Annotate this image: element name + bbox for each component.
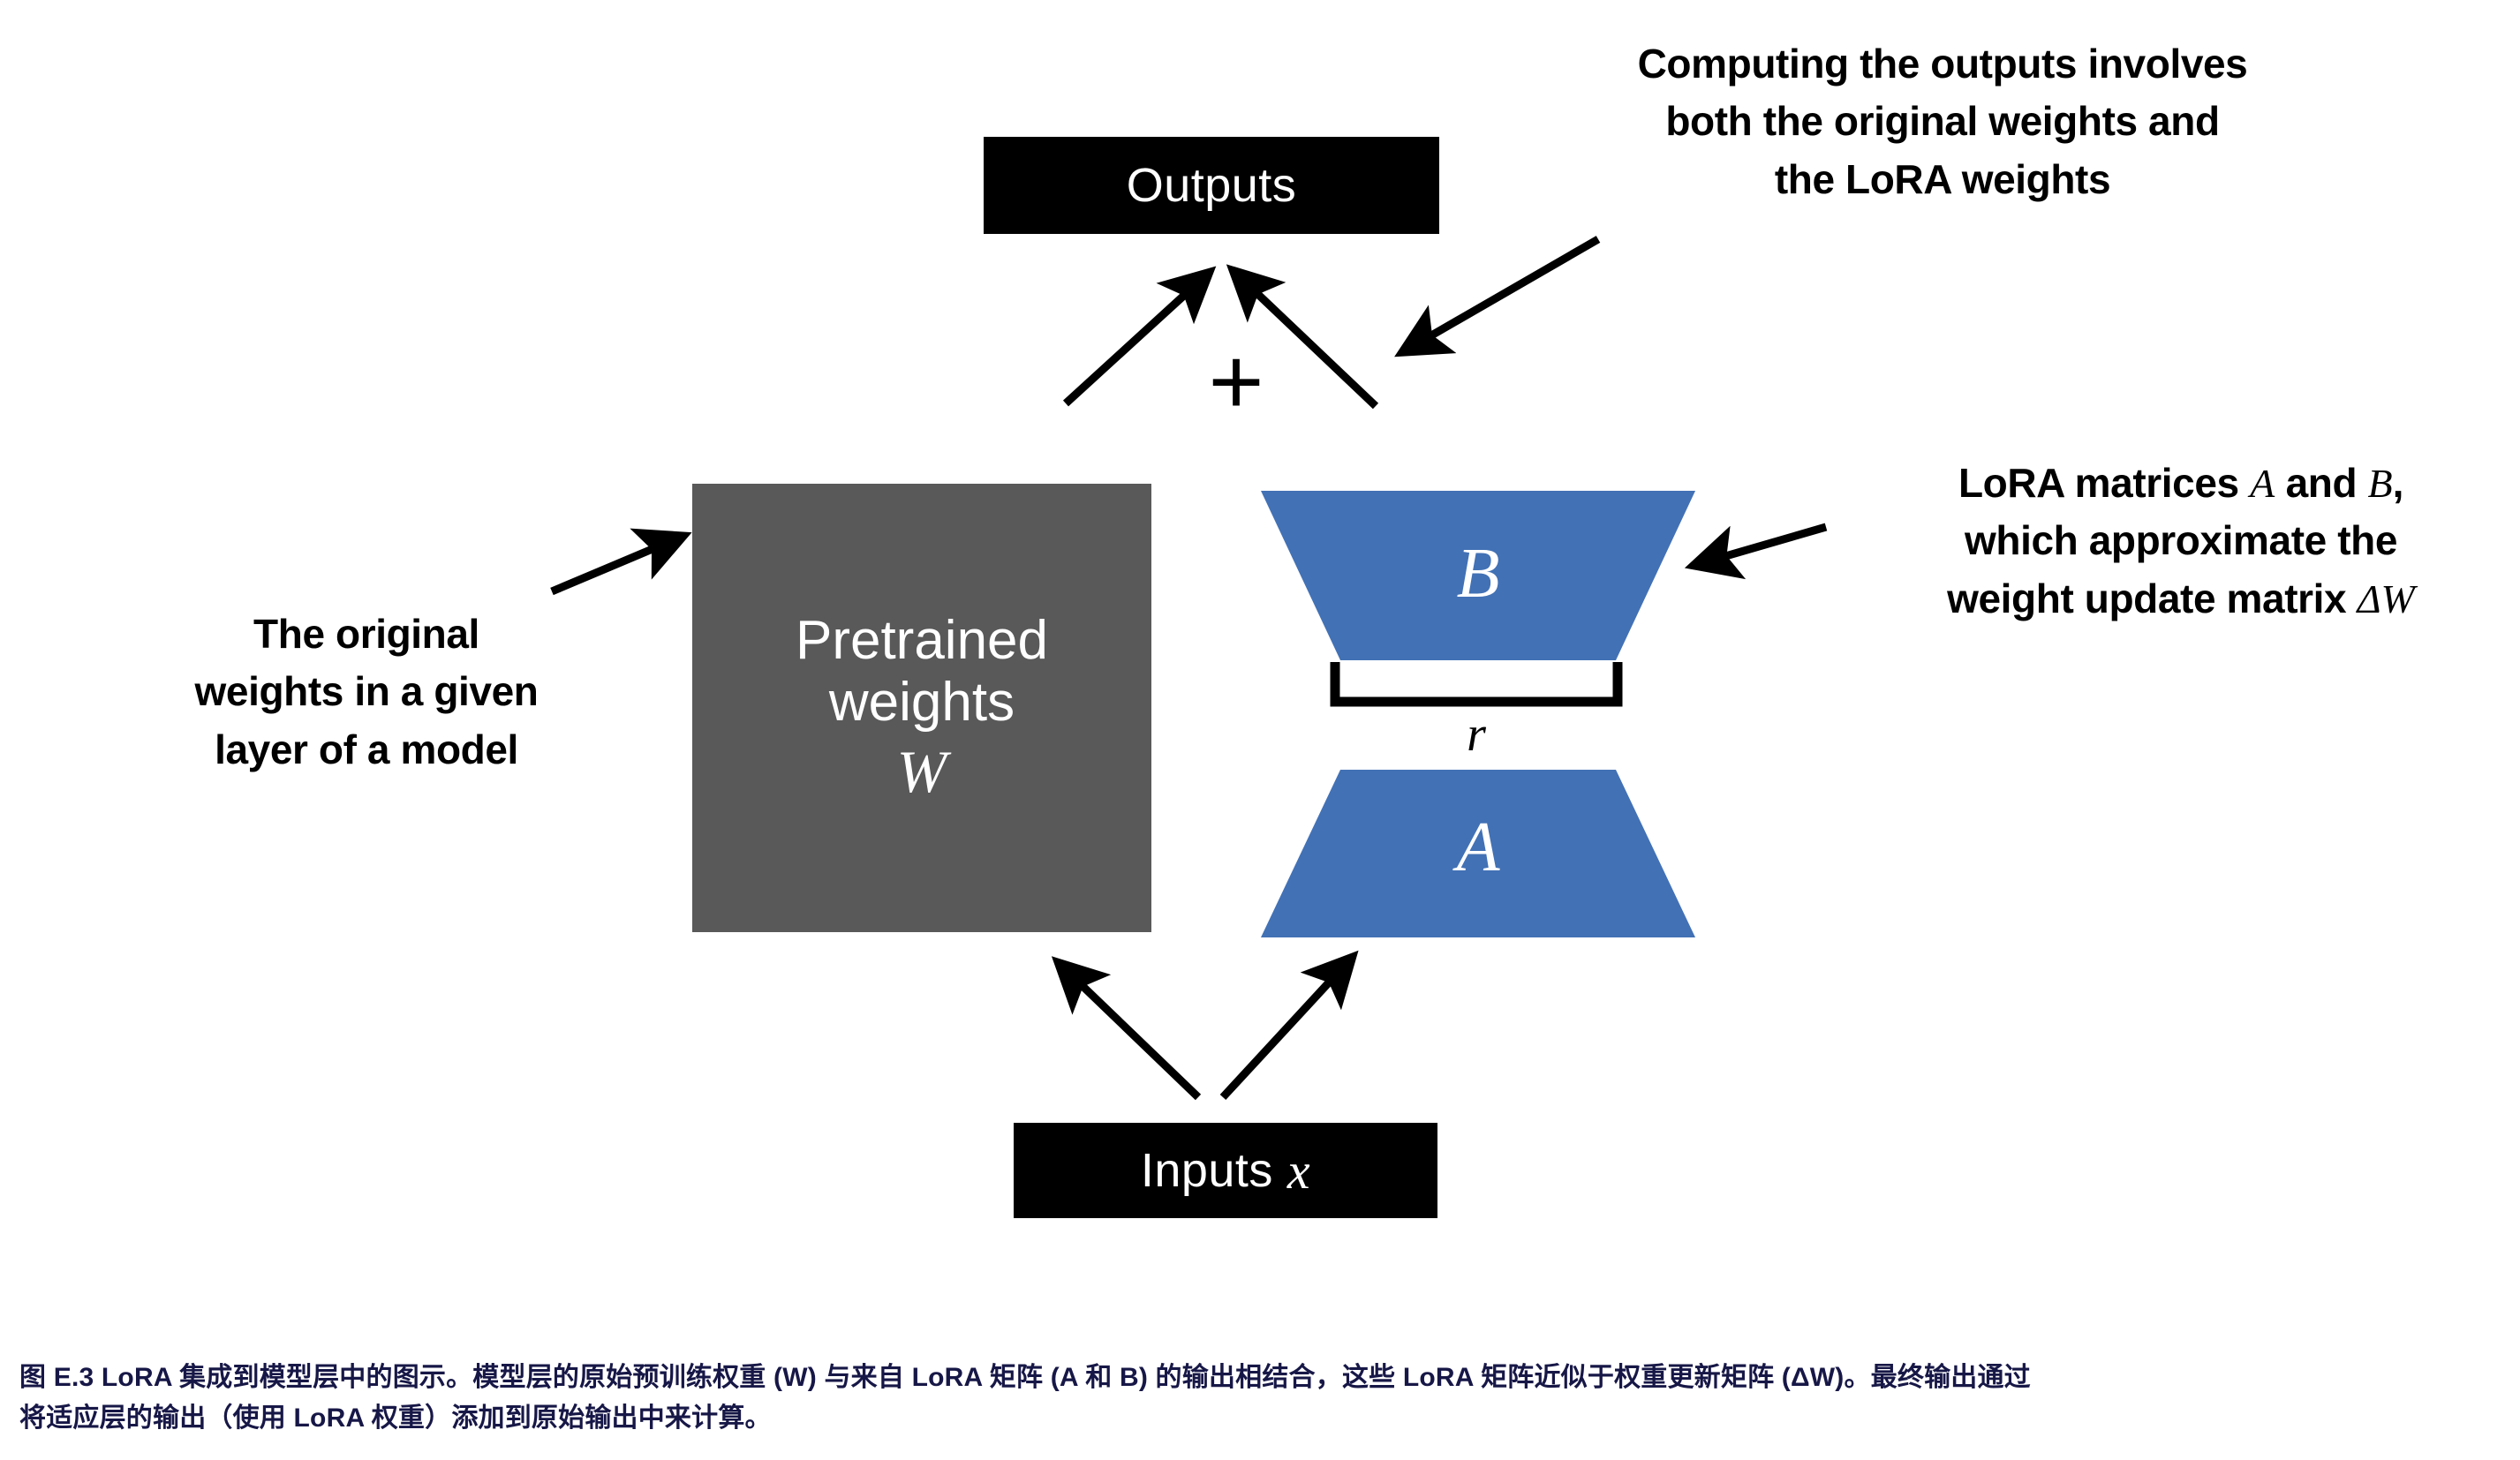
lora-a-label: A xyxy=(1434,808,1522,888)
annotation-right-line-1: LoRA matrices A and B, xyxy=(1845,455,2516,512)
annotation-top-right: Computing the outputs involves both the … xyxy=(1501,35,2384,208)
inputs-label: Inputs xyxy=(1141,1143,1273,1198)
arrow-inputs-to-lora xyxy=(1223,959,1351,1097)
annotation-right-delta-w: ΔW xyxy=(2358,576,2415,621)
lora-b-label: B xyxy=(1434,534,1522,614)
pretrained-math-w: W xyxy=(897,738,947,805)
rank-text: r xyxy=(1467,707,1486,762)
arrow-top-right-annotation xyxy=(1404,239,1598,351)
lora-a-text: A xyxy=(1457,809,1500,886)
annotation-left-line-2: weights in a given xyxy=(132,663,600,720)
pretrained-weights-box[interactable]: Pretrained weights W xyxy=(692,484,1151,932)
annotation-left-line-1: The original xyxy=(132,606,600,663)
annotation-right-matrix-b: B xyxy=(2368,461,2393,506)
arrow-left-annotation xyxy=(552,537,682,591)
annotation-left-line-3: layer of a model xyxy=(132,721,600,779)
arrow-right-annotation xyxy=(1695,527,1826,565)
inputs-box[interactable]: Inputs x xyxy=(1014,1123,1437,1218)
outputs-label: Outputs xyxy=(1127,158,1297,213)
annotation-right-line-1-mid: and xyxy=(2275,460,2367,506)
caption-line-2: 将适应层的输出（使用 LoRA 权重）添加到原始输出中来计算。 xyxy=(19,1398,2501,1439)
figure-root: Outputs + Pretrained weights W B r A Inp… xyxy=(0,0,2520,1460)
pretrained-line-2: weights xyxy=(829,672,1015,733)
annotation-right-line-2: which approximate the xyxy=(1845,512,2516,569)
annotation-right-line-1-post: , xyxy=(2393,460,2403,506)
rank-bracket xyxy=(1335,662,1618,702)
annotation-top-right-line-1: Computing the outputs involves xyxy=(1501,35,2384,93)
arrow-inputs-to-pretrained xyxy=(1060,964,1198,1097)
annotation-right-line-3-pre: weight update matrix xyxy=(1947,576,2357,621)
rank-label: r xyxy=(1432,706,1520,763)
figure-caption: 图 E.3 LoRA 集成到模型层中的图示。模型层的原始预训练权重 (W) 与来… xyxy=(19,1358,2501,1438)
lora-b-text: B xyxy=(1457,535,1500,613)
outputs-box[interactable]: Outputs xyxy=(984,137,1439,234)
annotation-top-right-line-2: both the original weights and xyxy=(1501,93,2384,150)
annotation-top-right-line-3: the LoRA weights xyxy=(1501,151,2384,208)
caption-line-1: 图 E.3 LoRA 集成到模型层中的图示。模型层的原始预训练权重 (W) 与来… xyxy=(19,1358,2501,1398)
plus-glyph: + xyxy=(1208,327,1264,434)
annotation-right-line-3: weight update matrix ΔW xyxy=(1845,570,2516,628)
annotation-left: The original weights in a given layer of… xyxy=(132,606,600,779)
annotation-right-line-1-pre: LoRA matrices xyxy=(1958,460,2250,506)
plus-symbol: + xyxy=(1196,334,1276,429)
annotation-right: LoRA matrices A and B, which approximate… xyxy=(1845,455,2516,628)
arrow-pretrained-to-outputs xyxy=(1066,274,1208,403)
inputs-math-x: x xyxy=(1287,1141,1310,1200)
pretrained-line-1: Pretrained xyxy=(796,610,1048,671)
annotation-right-matrix-a: A xyxy=(2250,461,2275,506)
